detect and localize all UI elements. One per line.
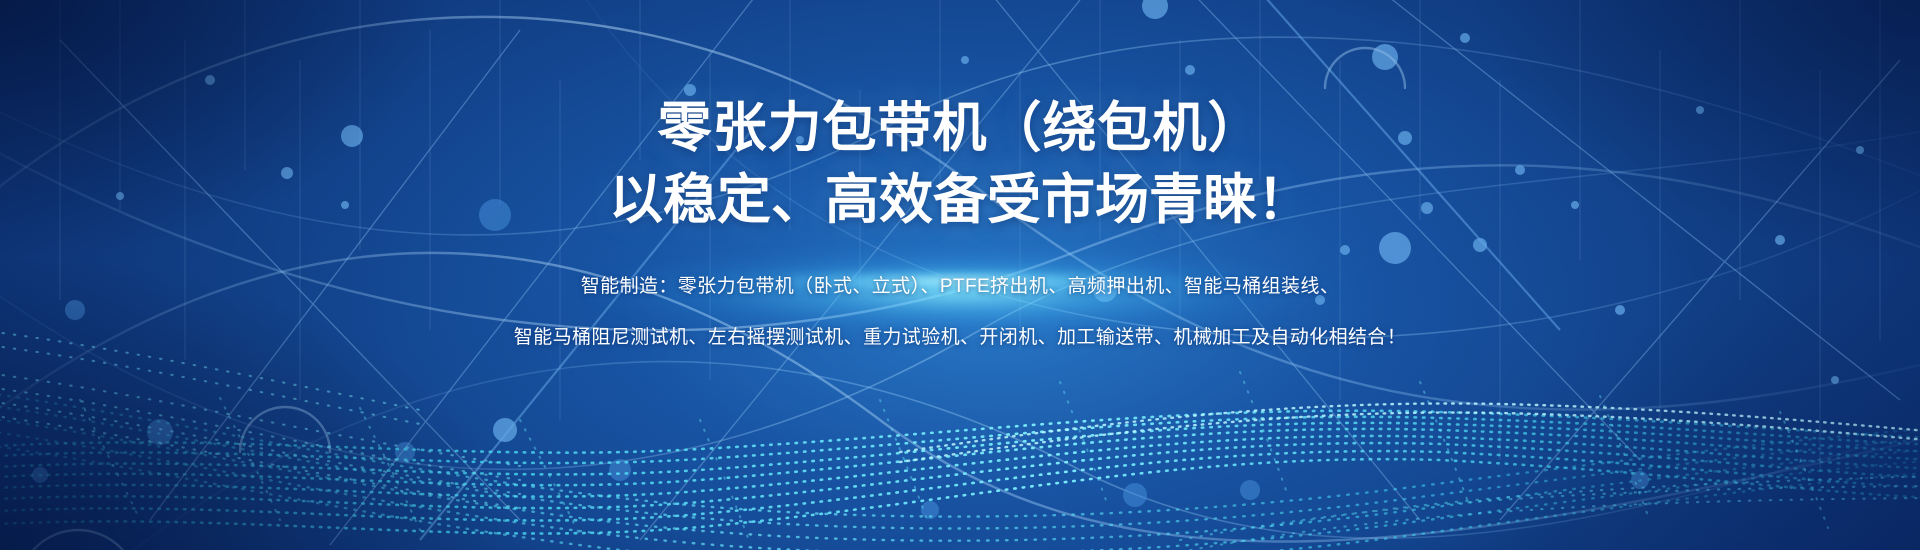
subtitle-line-2: 智能马桶阻尼测试机、左右摇摆测试机、重力试验机、开闭机、加工输送带、机械加工及自… [514,328,1406,347]
promo-banner: 零张力包带机（绕包机） 以稳定、高效备受市场青睐！ 智能制造：零张力包带机（卧式… [0,0,1920,550]
headline-line-1: 零张力包带机（绕包机） [658,98,1263,158]
headline-line-2: 以稳定、高效备受市场青睐！ [609,170,1311,230]
subtitle-line-1: 智能制造：零张力包带机（卧式、立式）、PTFE挤出机、高频押出机、智能马桶组装线… [581,277,1339,296]
banner-content: 零张力包带机（绕包机） 以稳定、高效备受市场青睐！ 智能制造：零张力包带机（卧式… [0,0,1920,550]
